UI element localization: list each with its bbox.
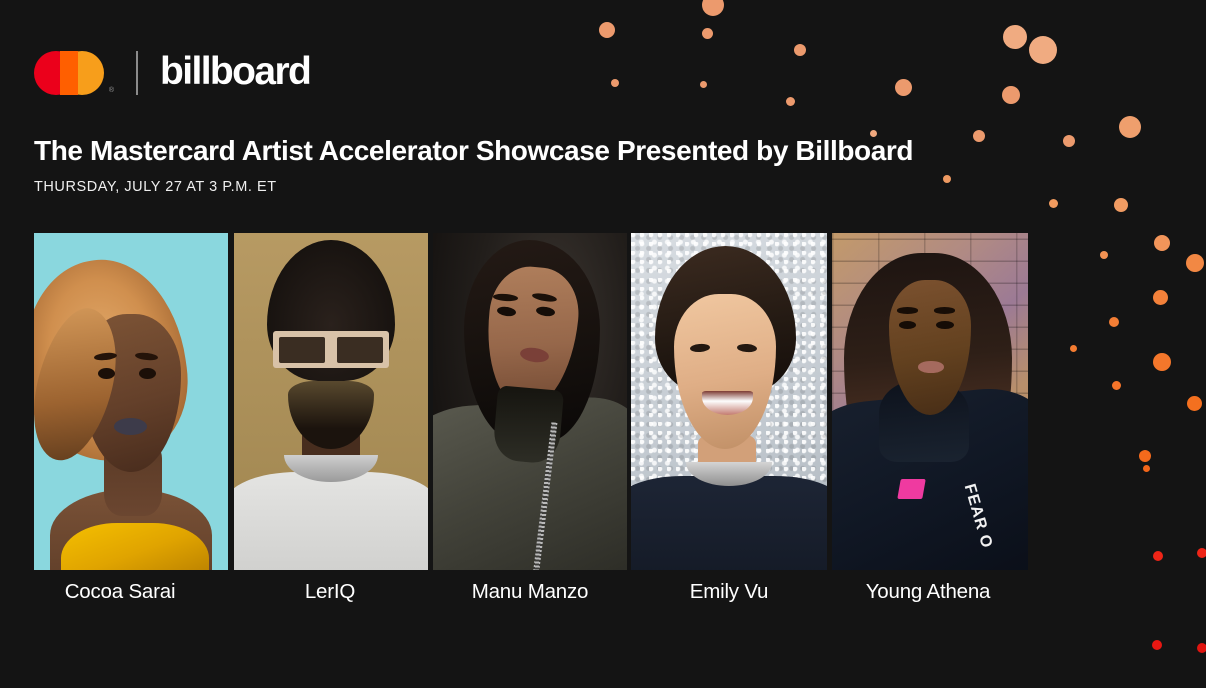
brow-right: [934, 307, 956, 313]
confetti-dot: [1002, 86, 1020, 104]
confetti-dot: [1197, 643, 1206, 653]
artist-name-label: Young Athena: [778, 578, 1078, 606]
showcase-promo-banner: ® billboard The Mastercard Artist Accele…: [0, 0, 1206, 688]
artist-name-row: Cocoa SaraiLerIQManu ManzoEmily VuYoung …: [34, 578, 1028, 610]
artist-card-cocoa-sarai[interactable]: [34, 233, 228, 570]
brand-lockup: ® billboard: [34, 45, 310, 101]
artist-photo-emily-vu: [631, 233, 827, 570]
event-title: The Mastercard Artist Accelerator Showca…: [34, 136, 913, 167]
artist-photo-young-athena: FEAR O: [832, 233, 1028, 570]
confetti-dot: [1143, 465, 1150, 472]
eye-right: [936, 321, 954, 329]
artist-photo-leriq: [234, 233, 428, 570]
billboard-wordmark: billboard: [160, 52, 310, 95]
lips-shape: [114, 418, 147, 435]
mastercard-overlap-shape: [60, 51, 78, 95]
confetti-dot: [599, 22, 615, 38]
confetti-dot: [1152, 640, 1162, 650]
eye-left: [899, 321, 917, 329]
confetti-dot: [973, 130, 985, 142]
artist-photo-manu-manzo: [433, 233, 627, 570]
mastercard-logo: ®: [34, 48, 112, 98]
artist-card-leriq[interactable]: [234, 233, 428, 570]
confetti-dot: [702, 0, 724, 16]
confetti-dot: [1063, 135, 1075, 147]
confetti-dot: [702, 28, 713, 39]
tshirt-shape: [234, 472, 428, 570]
confetti-dot: [1109, 317, 1119, 327]
sunglasses-lens-left: [279, 337, 326, 362]
confetti-dot: [1029, 36, 1057, 64]
event-date: THURSDAY, JULY 27 AT 3 P.M. ET: [34, 180, 913, 195]
brand-divider: [136, 51, 138, 95]
confetti-dot: [794, 44, 806, 56]
confetti-dot: [700, 81, 707, 88]
confetti-dot: [1153, 353, 1171, 371]
confetti-dot: [1003, 25, 1027, 49]
confetti-dot: [1154, 235, 1170, 251]
artist-photo-cocoa-sarai: [34, 233, 228, 570]
confetti-dot: [1070, 345, 1077, 352]
confetti-dot: [1114, 198, 1128, 212]
confetti-dot: [1197, 548, 1206, 558]
confetti-dot: [1049, 199, 1058, 208]
artist-gallery: FEAR O: [34, 233, 1028, 570]
confetti-dot: [943, 175, 951, 183]
hoodie-chest-logo: [897, 479, 926, 499]
confetti-dot: [895, 79, 912, 96]
confetti-dot: [1153, 290, 1168, 305]
lips-shape: [918, 361, 943, 372]
sweatshirt-shape: [631, 476, 827, 570]
headline-block: The Mastercard Artist Accelerator Showca…: [34, 136, 913, 194]
dress-shape: [61, 523, 208, 570]
artist-card-manu-manzo[interactable]: [433, 233, 627, 570]
confetti-dot: [1187, 396, 1202, 411]
artist-card-emily-vu[interactable]: [631, 233, 827, 570]
confetti-dot: [1119, 116, 1141, 138]
confetti-dot: [1139, 450, 1151, 462]
confetti-dot: [786, 97, 795, 106]
confetti-dot: [1112, 381, 1121, 390]
confetti-dot: [1153, 551, 1163, 561]
registered-trademark-mark: ®: [109, 87, 114, 94]
artist-card-young-athena[interactable]: FEAR O: [832, 233, 1028, 570]
confetti-dot: [1186, 254, 1204, 272]
brow-left: [897, 307, 919, 313]
confetti-dot: [611, 79, 619, 87]
sunglasses-lens-right: [337, 337, 384, 362]
confetti-dot: [1100, 251, 1108, 259]
